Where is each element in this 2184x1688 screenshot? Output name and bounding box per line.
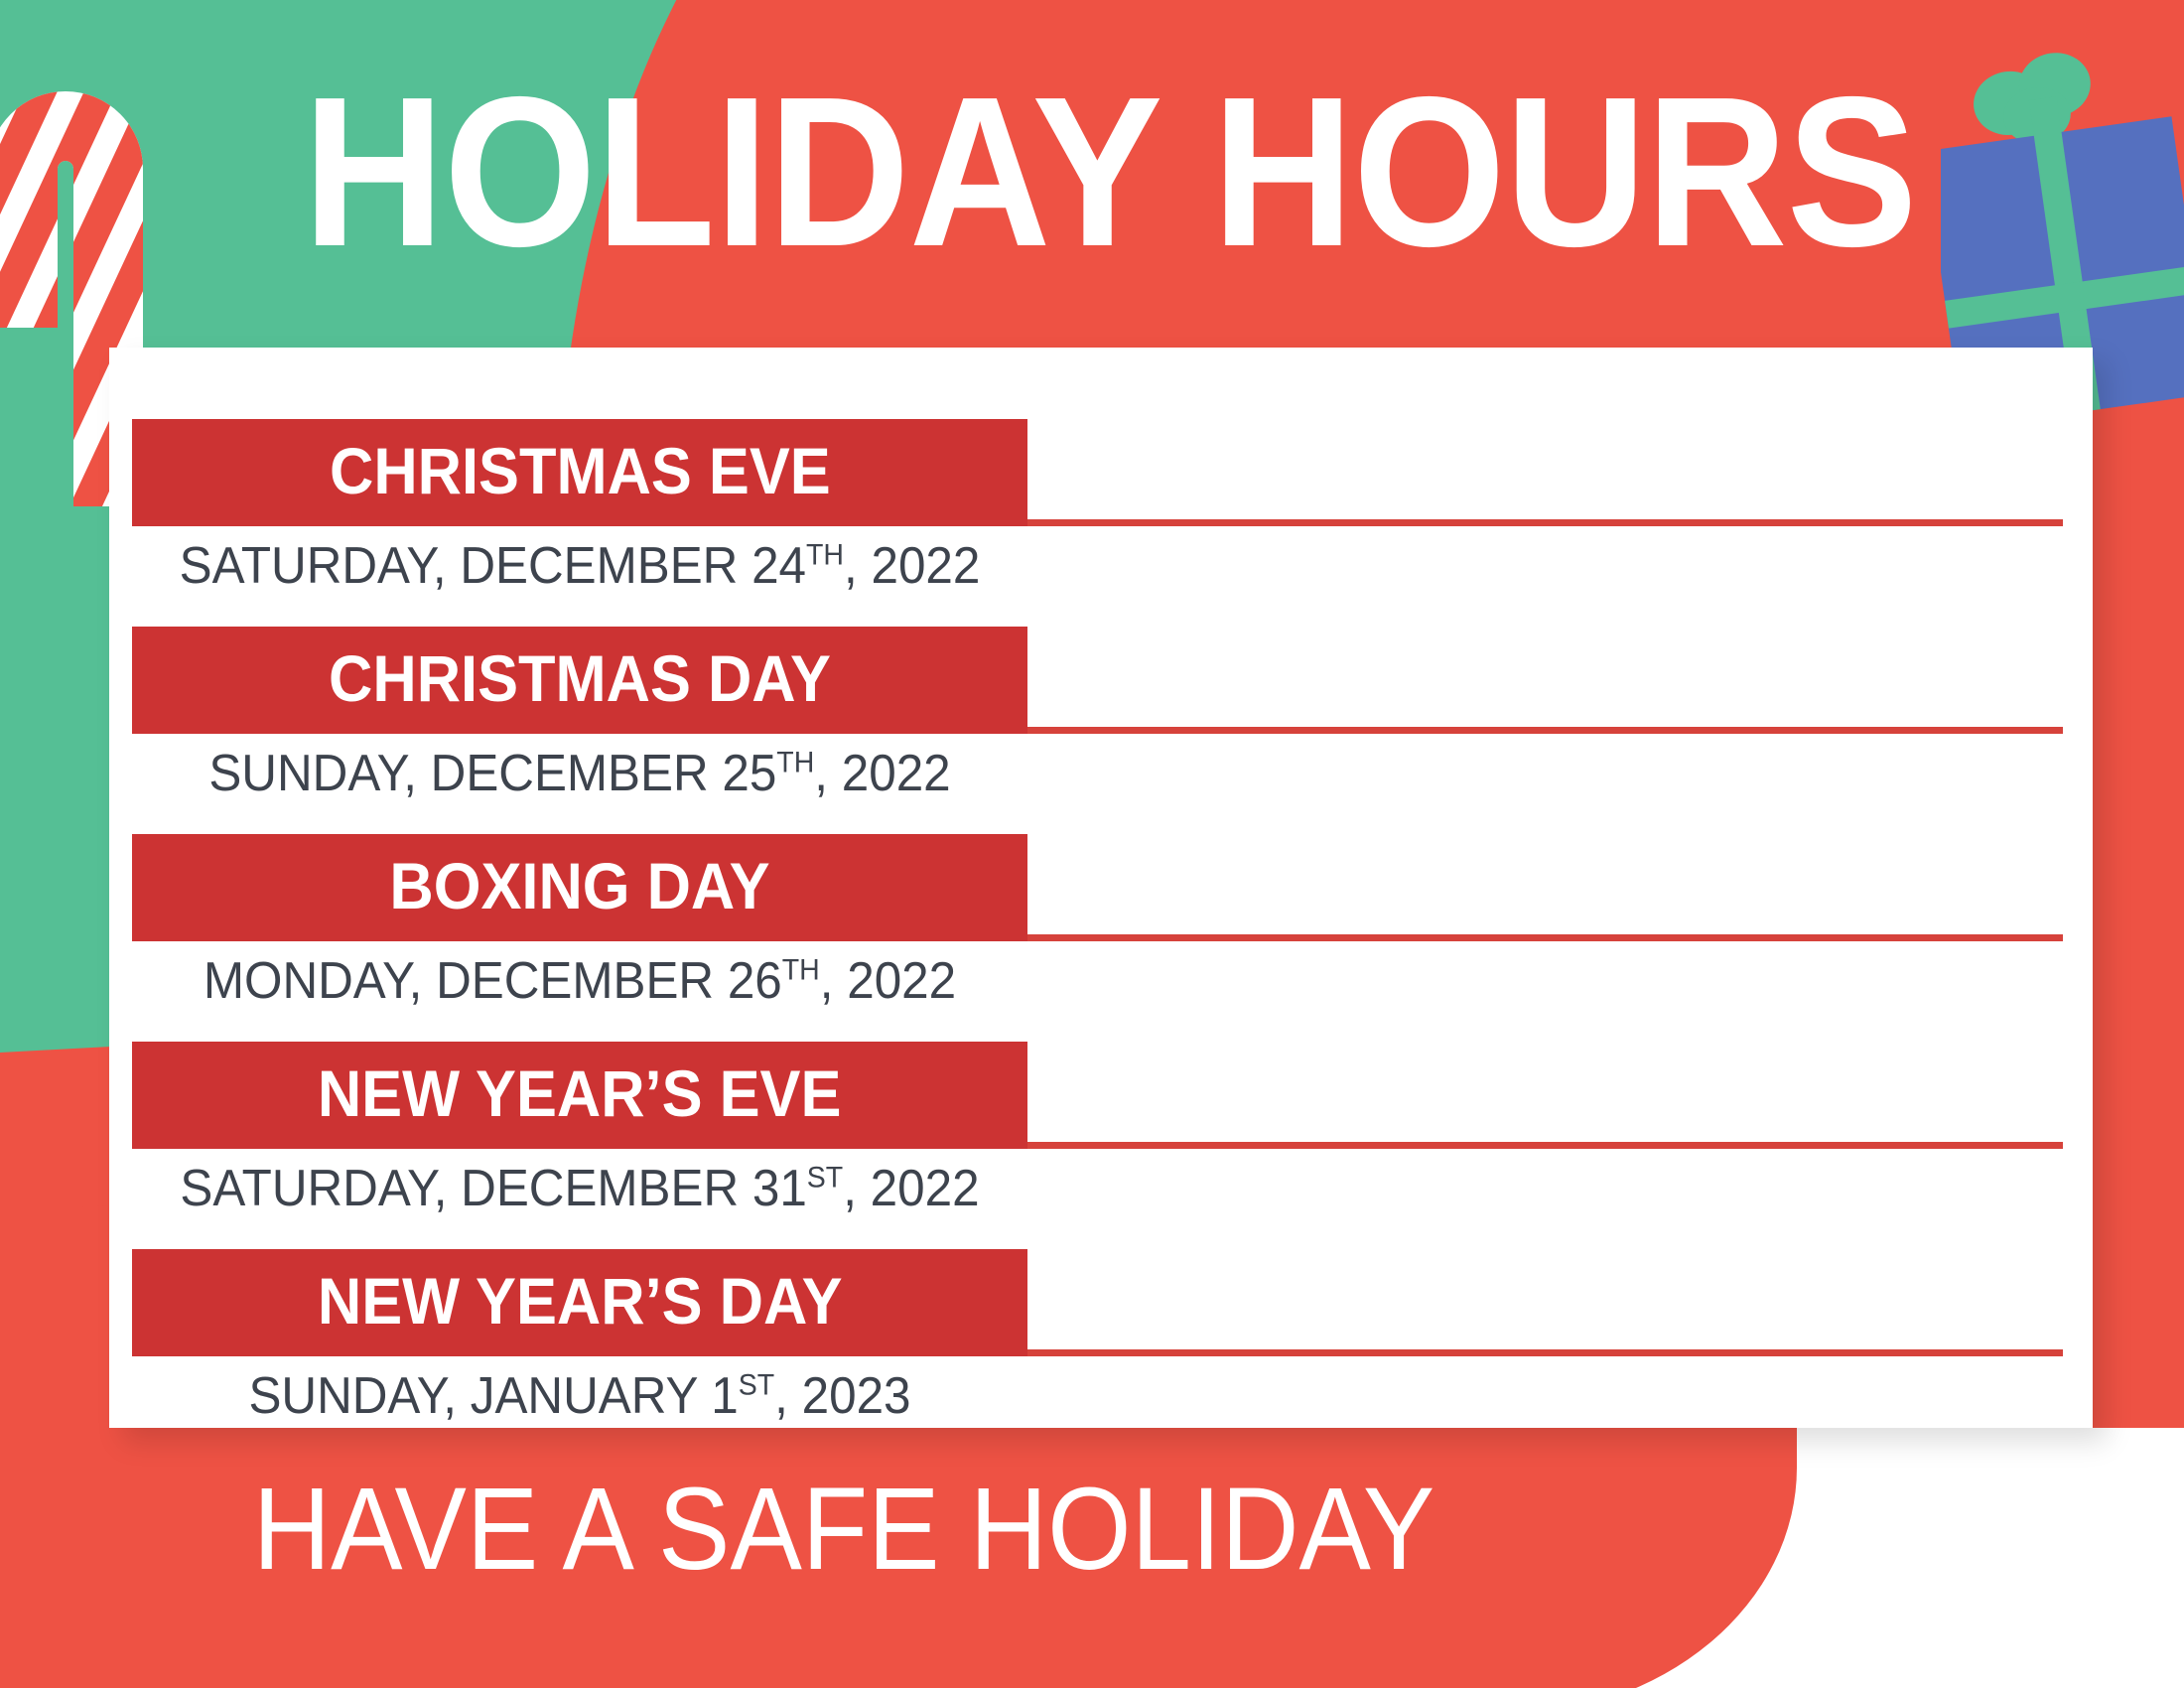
holiday-date-weekday: SUNDAY, JANUARY 1 [248, 1367, 738, 1425]
hours-write-in-rule [1027, 519, 2063, 526]
holiday-date-ordinal: ST [739, 1369, 774, 1402]
holiday-date-year: , 2022 [820, 952, 956, 1010]
holiday-date-year: , 2023 [774, 1367, 910, 1425]
holiday-rows-list: CHRISTMAS EVE SATURDAY, DECEMBER 24TH, 2… [109, 348, 2093, 1428]
holiday-name-band: CHRISTMAS EVE [132, 419, 1027, 526]
holiday-date-weekday: SATURDAY, DECEMBER 24 [180, 537, 806, 595]
holiday-date-ordinal: TH [776, 747, 814, 779]
holiday-date-year: , 2022 [843, 1160, 979, 1217]
hours-write-in-rule [1027, 1142, 2063, 1149]
holiday-date-year: , 2022 [814, 745, 950, 802]
holiday-date-label: SATURDAY, DECEMBER 31ST, 2022 [155, 1151, 1006, 1226]
hours-write-in-rule [1027, 934, 2063, 941]
holiday-name-band: CHRISTMAS DAY [132, 627, 1027, 734]
holiday-date-label: MONDAY, DECEMBER 26TH, 2022 [155, 943, 1006, 1019]
holiday-date-weekday: SATURDAY, DECEMBER 31 [180, 1160, 806, 1217]
holiday-name-label: CHRISTMAS EVE [330, 438, 831, 503]
holiday-name-label: NEW YEAR’S EVE [318, 1060, 842, 1126]
holiday-hours-poster: HOLIDAY HOURS CHRISTMAS EVE SATURDAY, DE… [0, 0, 2184, 1688]
holiday-date-ordinal: ST [807, 1162, 843, 1195]
holiday-name-band: NEW YEAR’S EVE [132, 1042, 1027, 1149]
holiday-name-label: NEW YEAR’S DAY [318, 1268, 843, 1334]
hours-write-in-rule [1027, 1349, 2063, 1356]
holiday-date-label: SATURDAY, DECEMBER 24TH, 2022 [155, 528, 1006, 604]
holiday-date-year: , 2022 [844, 537, 980, 595]
footer-message: HAVE A SAFE HOLIDAY [68, 1465, 1620, 1594]
holiday-date-label: SUNDAY, JANUARY 1ST, 2023 [155, 1358, 1006, 1434]
hours-write-in-rule [1027, 727, 2063, 734]
holiday-name-label: CHRISTMAS DAY [329, 645, 831, 711]
holiday-date-label: SUNDAY, DECEMBER 25TH, 2022 [155, 736, 1006, 811]
holiday-date-weekday: MONDAY, DECEMBER 26 [204, 952, 782, 1010]
holiday-hours-card: CHRISTMAS EVE SATURDAY, DECEMBER 24TH, 2… [109, 348, 2093, 1428]
holiday-name-band: BOXING DAY [132, 834, 1027, 941]
holiday-name-band: NEW YEAR’S DAY [132, 1249, 1027, 1356]
holiday-date-ordinal: TH [806, 539, 844, 572]
page-title: HOLIDAY HOURS [303, 77, 1801, 266]
holiday-name-label: BOXING DAY [389, 853, 769, 918]
holiday-date-ordinal: TH [782, 954, 820, 987]
holiday-date-weekday: SUNDAY, DECEMBER 25 [208, 745, 776, 802]
